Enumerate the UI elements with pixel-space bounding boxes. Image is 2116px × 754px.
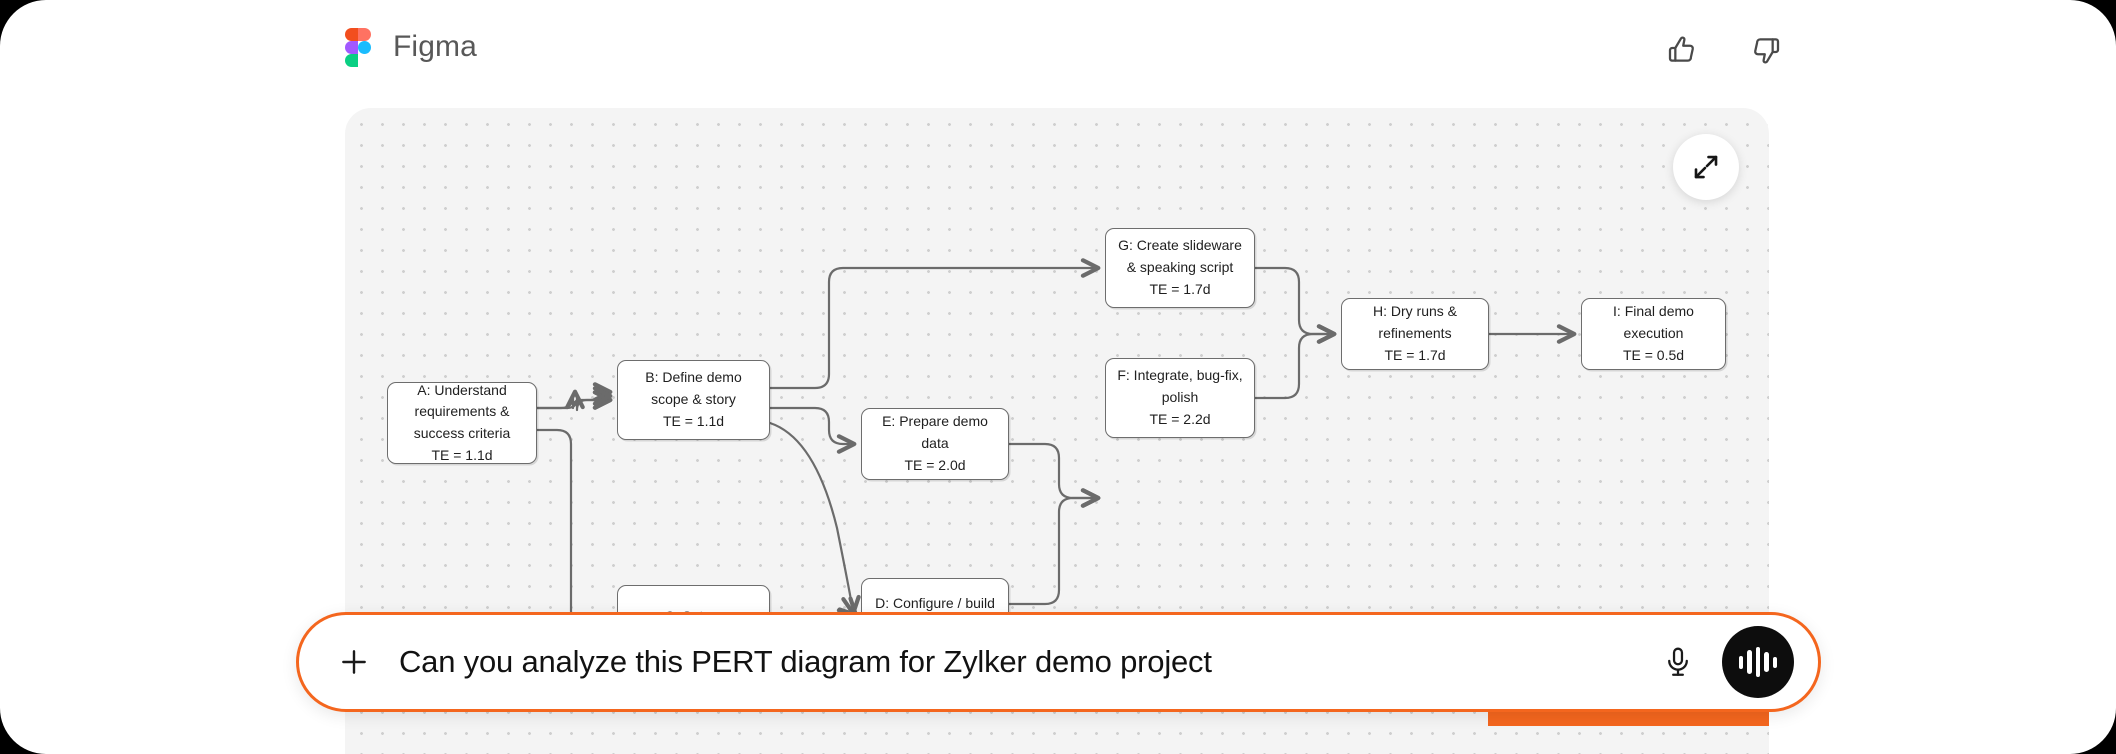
microphone-icon[interactable]: [1654, 638, 1702, 686]
node-title: G: Create slideware & speaking script: [1116, 235, 1244, 278]
node-te: TE = 1.1d: [663, 411, 724, 433]
expand-arrows-icon: [1691, 152, 1721, 182]
prompt-input[interactable]: [399, 644, 1654, 680]
pert-node-b[interactable]: B: Define demo scope & story TE = 1.1d: [617, 360, 770, 440]
node-title: H: Dry runs & refinements: [1352, 301, 1478, 344]
node-te: TE = 1.7d: [1384, 345, 1445, 367]
node-title: I: Final demo execution: [1592, 301, 1715, 344]
thumbs-down-icon[interactable]: [1746, 30, 1786, 70]
voice-assistant-button[interactable]: [1722, 626, 1794, 698]
expand-canvas-button[interactable]: [1673, 134, 1739, 200]
node-title: E: Prepare demo data: [872, 411, 998, 454]
node-te: TE = 2.2d: [1149, 409, 1210, 431]
app-header: Figma: [0, 0, 2116, 110]
pert-node-g[interactable]: G: Create slideware & speaking script TE…: [1105, 228, 1255, 308]
pert-node-e[interactable]: E: Prepare demo data TE = 2.0d: [861, 408, 1009, 480]
node-title: B: Define demo scope & story: [628, 367, 759, 410]
brand-name: Figma: [393, 30, 477, 64]
thumbs-up-icon[interactable]: [1662, 30, 1702, 70]
header-actions: [1662, 30, 1786, 70]
add-attachment-icon[interactable]: [337, 645, 371, 679]
node-te: TE = 1.7d: [1149, 279, 1210, 301]
brand: Figma: [345, 28, 477, 66]
node-te: TE = 0.5d: [1623, 345, 1684, 367]
pert-node-f[interactable]: F: Integrate, bug-fix, polish TE = 2.2d: [1105, 358, 1255, 438]
prompt-input-bar[interactable]: [296, 612, 1821, 712]
pert-node-h[interactable]: H: Dry runs & refinements TE = 1.7d: [1341, 298, 1489, 370]
audio-waveform-icon: [1739, 656, 1744, 669]
node-title: F: Integrate, bug-fix, polish: [1116, 365, 1244, 408]
pert-node-a[interactable]: A: Understand requirements & success cri…: [387, 382, 537, 464]
node-title: A: Understand requirements & success cri…: [398, 380, 526, 445]
node-te: TE = 1.1d: [431, 445, 492, 467]
app-window: Figma: [0, 0, 2116, 754]
figma-logo-icon: [345, 28, 371, 66]
node-te: TE = 2.0d: [904, 455, 965, 477]
pert-node-i[interactable]: I: Final demo execution TE = 0.5d: [1581, 298, 1726, 370]
